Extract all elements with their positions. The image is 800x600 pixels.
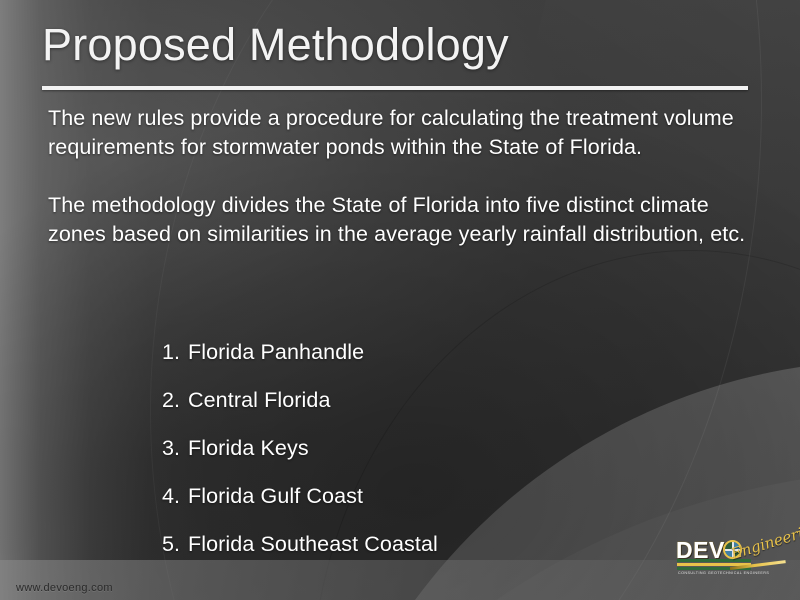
slide-body: The new rules provide a procedure for ca…	[48, 104, 760, 249]
list-item: 3. Florida Keys	[162, 438, 438, 486]
list-item-label: Florida Panhandle	[188, 342, 364, 364]
slide-title: Proposed Methodology	[42, 20, 509, 70]
presentation-slide: Proposed Methodology The new rules provi…	[0, 0, 800, 600]
footer-website-url: www.devoeng.com	[16, 583, 113, 594]
list-item-number: 5.	[162, 534, 188, 556]
list-item-number: 4.	[162, 486, 188, 508]
company-logo: DEV CONSULTING GEOTECHNICAL ENGINEERS En…	[676, 537, 788, 585]
list-item-number: 3.	[162, 438, 188, 460]
list-item-label: Florida Southeast Coastal	[188, 534, 438, 556]
list-item: 2. Central Florida	[162, 390, 438, 438]
climate-zone-list: 1. Florida Panhandle 2. Central Florida …	[162, 342, 438, 582]
list-item-number: 2.	[162, 390, 188, 412]
body-paragraph-1: The new rules provide a procedure for ca…	[48, 104, 760, 162]
list-item-label: Florida Keys	[188, 438, 309, 460]
list-item-label: Central Florida	[188, 390, 331, 412]
list-item-label: Florida Gulf Coast	[188, 486, 363, 508]
list-item: 1. Florida Panhandle	[162, 342, 438, 390]
title-underline-rule	[42, 86, 748, 90]
list-item: 4. Florida Gulf Coast	[162, 486, 438, 534]
list-item-number: 1.	[162, 342, 188, 364]
body-paragraph-2: The methodology divides the State of Flo…	[48, 191, 760, 249]
logo-tagline: CONSULTING GEOTECHNICAL ENGINEERS	[678, 572, 769, 576]
